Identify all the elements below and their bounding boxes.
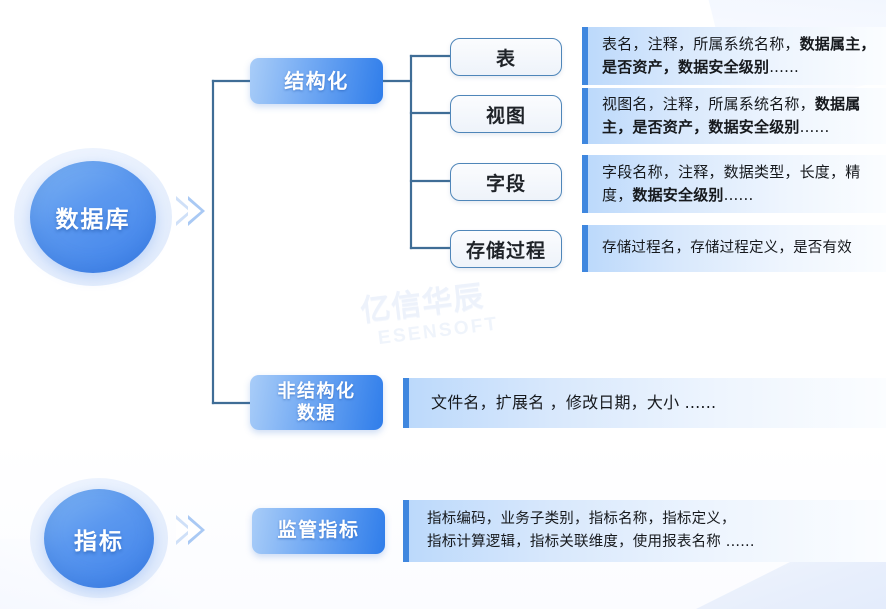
chevron-icon <box>188 196 205 226</box>
desc-plain-view: 视图名，注释，所属系统名称， <box>602 95 815 113</box>
branch-label-unstructured: 非结构化 数据 <box>278 381 356 425</box>
subnode-view[interactable]: 视图 <box>450 95 562 133</box>
desc-tail-table: ...... <box>769 58 799 76</box>
branch-label-regulatory-indicator: 监管指标 <box>277 519 359 542</box>
desc-line1-regulatory-indicator: 指标编码，业务子类别，指标名称，指标定义， <box>427 511 736 527</box>
root-label-indicator: 指标 <box>74 522 124 556</box>
desc-bold-field: 数据安全级别 <box>632 186 723 204</box>
branch-label-unstructured-line2: 数据 <box>297 403 336 424</box>
desc-panel-field: 字段名称，注释，数据类型，长度，精度，数据安全级别...... <box>582 155 886 213</box>
subnode-table[interactable]: 表 <box>450 38 562 76</box>
root-node-indicator[interactable]: 指标 <box>30 478 170 600</box>
branch-node-unstructured[interactable]: 非结构化 数据 <box>250 375 383 430</box>
arrow-indicator-to-node <box>176 515 200 545</box>
branch-node-regulatory-indicator[interactable]: 监管指标 <box>252 508 385 554</box>
desc-panel-table: 表名，注释，所属系统名称，数据属主，是否资产，数据安全级别...... <box>582 27 886 85</box>
desc-text-field: 字段名称，注释，数据类型，长度，精度，数据安全级别...... <box>588 161 886 208</box>
desc-text-view: 视图名，注释，所属系统名称，数据属主，是否资产，数据安全级别...... <box>588 93 886 140</box>
watermark: 亿信华辰 ESENSOFT <box>359 275 545 358</box>
diagram-canvas: 亿信华辰 ESENSOFT 数据库 结构化 表 视图 字段 存储过程 表名，注释… <box>0 0 886 609</box>
desc-plain-table: 表名，注释，所属系统名称， <box>602 35 800 53</box>
desc-plain-unstructured: 文件名，扩展名 ，修改日期，大小 ...... <box>431 393 716 412</box>
desc-text-procedure: 存储过程名，存储过程定义，是否有效 <box>588 237 862 260</box>
circle-core-database: 数据库 <box>30 161 156 273</box>
subnode-label-field: 字段 <box>486 169 526 196</box>
desc-panel-regulatory-indicator: 指标编码，业务子类别，指标名称，指标定义， 指标计算逻辑，指标关联维度，使用报表… <box>403 500 886 562</box>
branch-label-structured: 结构化 <box>284 69 349 93</box>
subnode-label-view: 视图 <box>486 101 526 128</box>
desc-tail-field: ...... <box>724 186 754 204</box>
subnode-field[interactable]: 字段 <box>450 163 562 201</box>
branch-node-structured[interactable]: 结构化 <box>250 58 383 104</box>
circle-core-indicator: 指标 <box>44 489 154 588</box>
subnode-label-table: 表 <box>496 44 516 71</box>
watermark-en: ESENSOFT <box>377 309 544 348</box>
desc-text-regulatory-indicator: 指标编码，业务子类别，指标名称，指标定义， 指标计算逻辑，指标关联维度，使用报表… <box>409 508 765 554</box>
desc-text-unstructured: 文件名，扩展名 ，修改日期，大小 ...... <box>409 391 726 416</box>
desc-panel-view: 视图名，注释，所属系统名称，数据属主，是否资产，数据安全级别...... <box>582 88 886 144</box>
chevron-icon <box>188 515 205 545</box>
watermark-cn: 亿信华辰 <box>359 275 541 327</box>
branch-label-unstructured-line1: 非结构化 <box>278 381 356 402</box>
root-label-database: 数据库 <box>56 200 131 234</box>
desc-line2-regulatory-indicator: 指标计算逻辑，指标关联维度，使用报表名称 ...... <box>427 534 755 550</box>
desc-tail-view: ...... <box>800 118 830 136</box>
desc-panel-procedure: 存储过程名，存储过程定义，是否有效 <box>582 225 886 272</box>
subnode-procedure[interactable]: 存储过程 <box>450 230 562 268</box>
arrow-database-to-branches <box>176 196 200 226</box>
root-node-database[interactable]: 数据库 <box>14 148 174 288</box>
desc-plain-procedure: 存储过程名，存储过程定义，是否有效 <box>602 240 852 256</box>
desc-text-table: 表名，注释，所属系统名称，数据属主，是否资产，数据安全级别...... <box>588 33 886 80</box>
desc-panel-unstructured: 文件名，扩展名 ，修改日期，大小 ...... <box>403 378 886 428</box>
subnode-label-procedure: 存储过程 <box>466 236 546 263</box>
